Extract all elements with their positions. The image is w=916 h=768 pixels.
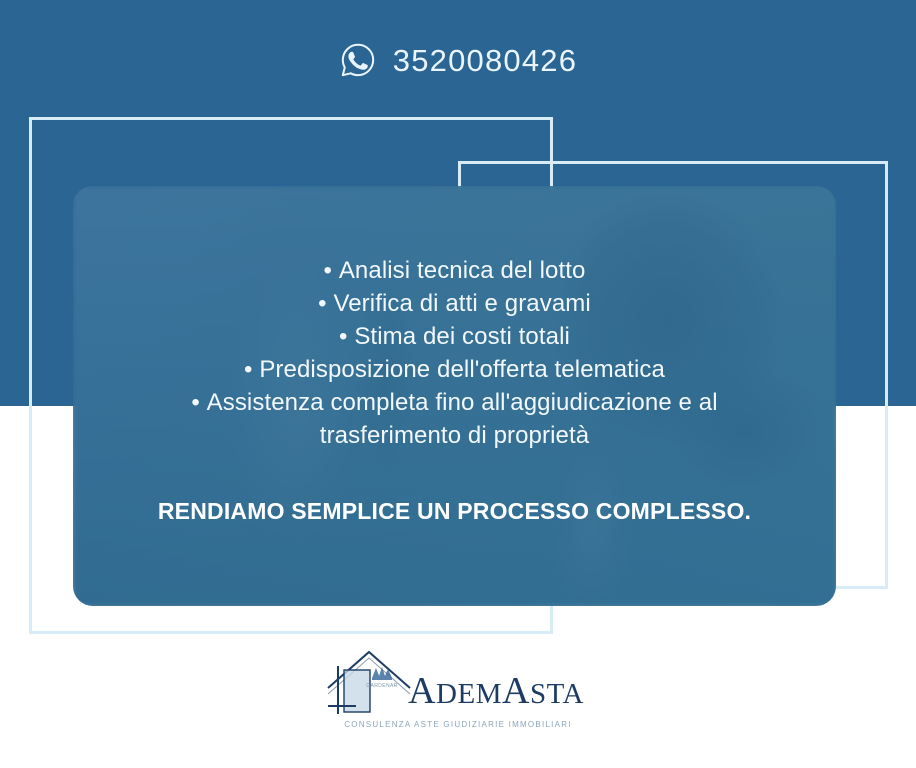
contact-header: 3520080426 xyxy=(0,34,916,86)
list-item: Analisi tecnica del lotto xyxy=(73,254,836,287)
poster-canvas: 3520080426 Analisi tecnica del lotto Ver… xyxy=(0,0,916,768)
house-outline-icon: GARDENAR xyxy=(322,648,414,714)
logo-main-row: GARDENAR ADEMASTA xyxy=(322,648,594,714)
list-item: Assistenza completa fino all'aggiudicazi… xyxy=(73,386,836,452)
whatsapp-icon[interactable] xyxy=(339,41,377,79)
phone-number[interactable]: 3520080426 xyxy=(393,45,577,76)
logo-subtitle: CONSULENZA ASTE GIUDIZIARIE IMMOBILIARI xyxy=(344,720,571,729)
logo-wordmark: ADEMASTA xyxy=(408,672,584,710)
logo-word-a2: A xyxy=(502,670,530,712)
list-item: Stima dei costi totali xyxy=(73,320,836,353)
logo-word-dem: DEM xyxy=(436,678,502,710)
tagline: RENDIAMO SEMPLICE UN PROCESSO COMPLESSO. xyxy=(118,498,791,525)
card-content: Analisi tecnica del lotto Verifica di at… xyxy=(73,186,836,606)
service-bullet-list: Analisi tecnica del lotto Verifica di at… xyxy=(73,254,836,452)
logo-word-sta: STA xyxy=(530,678,584,710)
content-card: Analisi tecnica del lotto Verifica di at… xyxy=(73,186,836,606)
list-item: Predisposizione dell'offerta telematica xyxy=(73,353,836,386)
list-item: Verifica di atti e gravami xyxy=(73,287,836,320)
logo-word-a1: A xyxy=(408,670,436,712)
logo-mark-inner-text: GARDENAR xyxy=(366,683,398,689)
brand-logo: GARDENAR ADEMASTA CONSULENZA ASTE GIUDIZ… xyxy=(0,648,916,729)
